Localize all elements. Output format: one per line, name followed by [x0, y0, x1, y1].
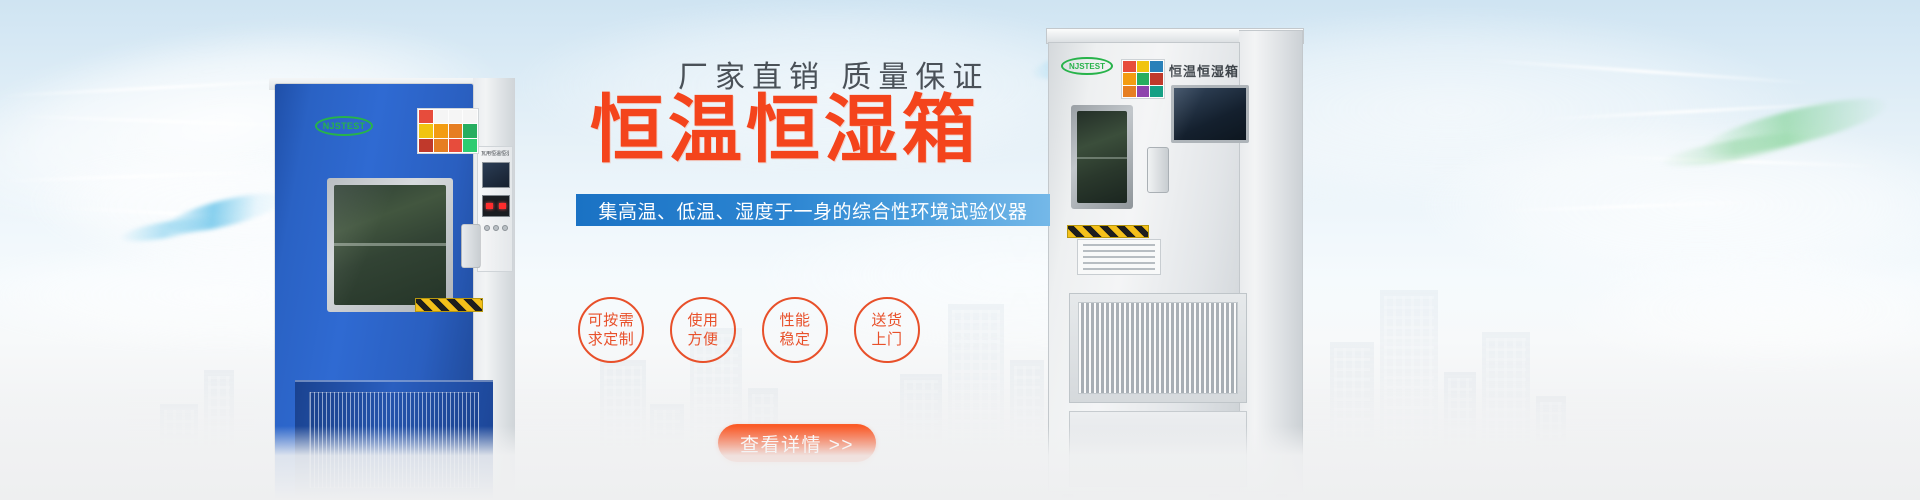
led-readout: [482, 195, 510, 217]
chamber-base: [1069, 411, 1247, 487]
machine-shadow: [1050, 496, 1300, 500]
door-handle: [1147, 147, 1169, 193]
cloud-streak: [1500, 200, 1760, 212]
control-button: [493, 225, 499, 231]
building: [160, 404, 198, 500]
building: [1444, 372, 1476, 500]
window-glass: [334, 185, 446, 305]
building: [1380, 290, 1438, 500]
banner-subtitle-bar: 集高温、低温、湿度于一身的综合性环境试验仪器: [576, 194, 1050, 226]
building: [204, 370, 234, 500]
chamber-viewing-window: [1071, 105, 1133, 209]
control-screen: [482, 162, 510, 188]
feature-badge-line1: 性能: [779, 311, 810, 330]
feature-badge: 可按需 求定制: [578, 297, 644, 363]
cloud-wisp: [1560, 250, 1920, 370]
feature-badge-line1: 使用: [687, 311, 718, 330]
control-buttons: [482, 221, 510, 235]
banner-title: 恒温恒湿箱: [590, 88, 980, 172]
feature-badge-list: 可按需 求定制 使用 方便 性能 稳定 送货 上门: [578, 290, 1058, 370]
banner-copy-block: 厂家直销 质量保证 恒温恒湿箱 集高温、低温、湿度于一身的综合性环境试验仪器 可…: [560, 0, 1080, 500]
cloud-streak: [0, 170, 270, 182]
led-indicator: [499, 203, 506, 209]
feature-badge-line2: 稳定: [779, 330, 810, 349]
feature-badge-line1: 可按需: [588, 311, 635, 330]
chamber-lower-panel: [295, 380, 493, 500]
cloud-streak: [1480, 58, 1809, 84]
view-details-button[interactable]: 查看详情 >>: [718, 424, 876, 462]
feature-badge-line1: 送货: [871, 311, 902, 330]
cloud-streak: [1600, 155, 1880, 168]
feature-badge-line2: 上门: [871, 330, 902, 349]
banner-subtitle-text: 集高温、低温、湿度于一身的综合性环境试验仪器: [598, 197, 1027, 224]
ventilation-grille: [309, 392, 479, 488]
window-glass: [1077, 111, 1127, 203]
feature-badge-line2: 求定制: [588, 330, 635, 349]
chamber-front-body: NJSTEST: [275, 84, 473, 500]
building: [1536, 396, 1566, 500]
building: [1482, 332, 1530, 500]
product-image-left-chamber: 瓦用恒温恒湿箱 NJSTEST: [255, 70, 525, 500]
led-indicator: [486, 203, 493, 209]
teal-swoosh-accent: [119, 214, 210, 245]
spec-plate: [1077, 239, 1161, 275]
feature-badge-line2: 方便: [687, 330, 718, 349]
control-screen: [1171, 85, 1249, 143]
hazard-stripe-label: [415, 298, 483, 312]
safety-label-sticker: [1121, 59, 1165, 99]
cloud-wisp: [1420, 120, 1920, 290]
control-panel-title: 瓦用恒温恒湿箱: [481, 150, 509, 159]
control-button: [484, 225, 490, 231]
green-swoosh-accent: [1699, 88, 1892, 167]
door-handle: [461, 224, 481, 268]
building: [1330, 342, 1374, 500]
feature-badge: 使用 方便: [670, 297, 736, 363]
green-swoosh-accent: [1659, 127, 1810, 173]
ventilation-grille: [1078, 302, 1238, 394]
cloud-streak: [1540, 102, 1840, 121]
ventilation-housing: [1069, 293, 1247, 403]
brand-logo-icon: NJSTEST: [315, 116, 373, 136]
chamber-viewing-window: [327, 178, 453, 312]
safety-label-sticker: [417, 108, 479, 154]
product-banner: 瓦用恒温恒湿箱 NJSTEST: [0, 0, 1920, 500]
control-panel: 瓦用恒温恒湿箱: [477, 146, 513, 272]
feature-badge: 性能 稳定: [762, 297, 828, 363]
control-button: [502, 225, 508, 231]
feature-badge: 送货 上门: [854, 297, 920, 363]
